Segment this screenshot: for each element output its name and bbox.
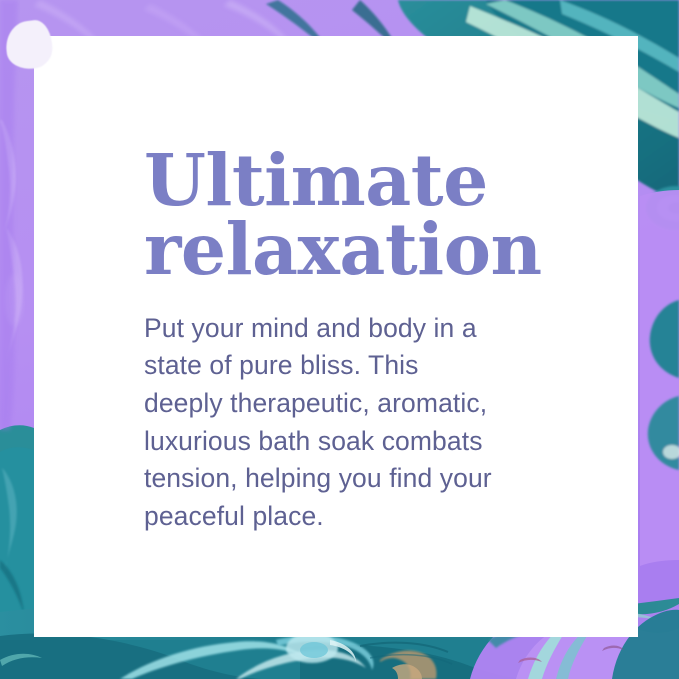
page-title: Ultimate relaxation (144, 146, 564, 284)
poster-canvas: Ultimate relaxation Put your mind and bo… (0, 0, 679, 679)
content-card: Ultimate relaxation Put your mind and bo… (34, 36, 638, 637)
text-block: Ultimate relaxation Put your mind and bo… (144, 146, 564, 535)
product-description: Put your mind and body in a state of pur… (144, 310, 564, 536)
